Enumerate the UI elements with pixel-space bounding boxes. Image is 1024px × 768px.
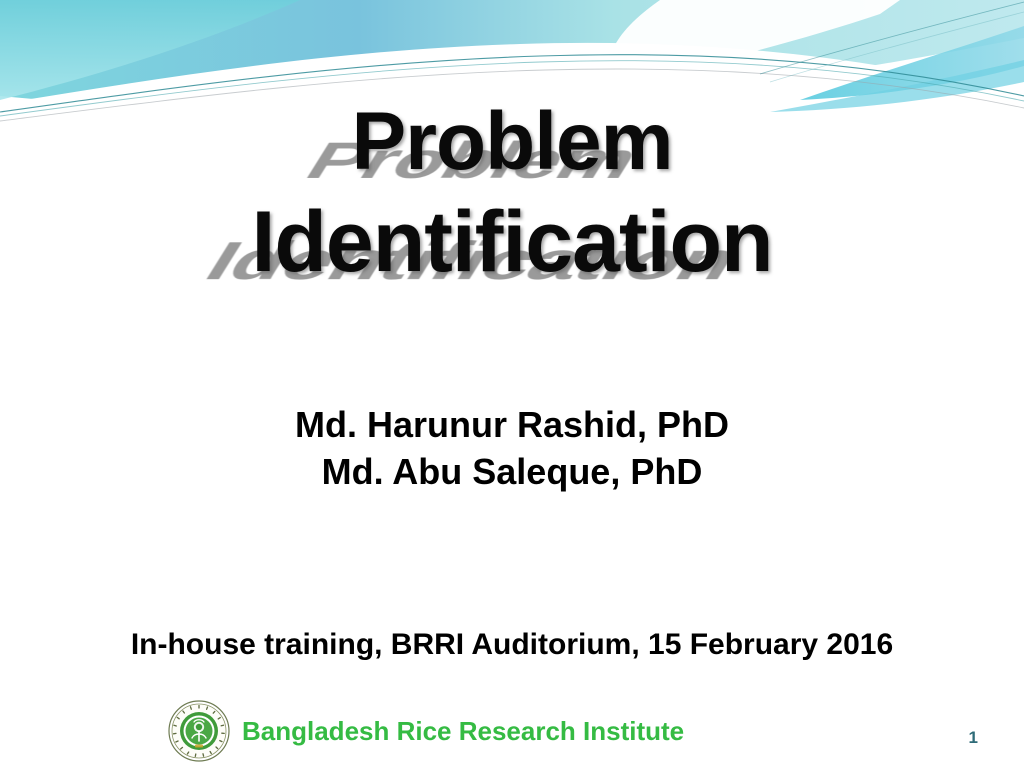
- event-details: In-house training, BRRI Auditorium, 15 F…: [0, 628, 1024, 662]
- title-line-1-text: Problem: [0, 92, 1024, 192]
- title-line-2: Identification Identification: [0, 192, 1024, 292]
- brri-seal-icon: [168, 700, 230, 762]
- title-line-1: Problem Problem: [0, 92, 1024, 192]
- presentation-slide: Problem Problem Identification Identific…: [0, 0, 1024, 768]
- presenter-list: Md. Harunur Rashid, PhD Md. Abu Saleque,…: [0, 402, 1024, 496]
- presenter-name-1: Md. Harunur Rashid, PhD: [0, 402, 1024, 449]
- title-line-2-text: Identification: [0, 192, 1024, 292]
- presenter-name-2: Md. Abu Saleque, PhD: [0, 449, 1024, 496]
- slide-number: 1: [969, 728, 978, 748]
- organization-name: Bangladesh Rice Research Institute: [242, 716, 684, 747]
- slide-title: Problem Problem Identification Identific…: [0, 92, 1024, 292]
- footer: Bangladesh Rice Research Institute: [168, 700, 684, 762]
